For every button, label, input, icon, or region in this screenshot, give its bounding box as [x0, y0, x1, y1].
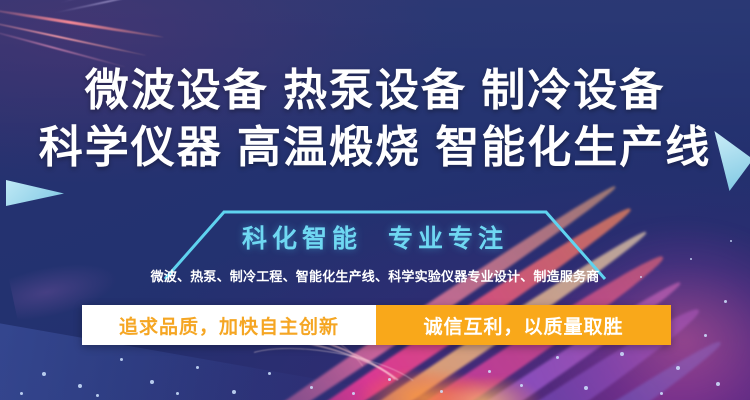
- subtitle: 科化智能专业专注: [0, 219, 750, 255]
- sparkle-dot: [96, 394, 99, 397]
- sparkle-dot: [488, 370, 491, 373]
- sparkle-dot: [704, 334, 707, 337]
- subtitle-right: 专业专注: [388, 225, 508, 253]
- sparkle-dot: [388, 378, 391, 381]
- sparkle-dot: [352, 392, 355, 395]
- sparkle-dot: [660, 392, 663, 395]
- slogan-left: 追求品质，加快自主创新: [82, 305, 376, 345]
- sparkle-dot: [196, 366, 199, 369]
- sparkle-dot: [268, 372, 271, 375]
- sparkle-dot: [620, 352, 624, 356]
- slogan-bar: 追求品质，加快自主创新 诚信互利，以质量取胜: [82, 305, 671, 345]
- sparkle-dot: [42, 372, 46, 376]
- sparkle-dot: [120, 358, 123, 361]
- subtitle-left: 科化智能: [242, 225, 362, 253]
- sparkle-dot: [440, 390, 443, 393]
- sparkle-dot: [716, 382, 720, 386]
- glow-orange-bottom-center-2: [408, 378, 558, 400]
- sparkle-dot: [176, 392, 179, 395]
- sparkle-dot: [584, 386, 588, 390]
- headline-line-2: 科学仪器 高温煅烧 智能化生产线: [0, 119, 750, 176]
- tagline: 微波、热泵、制冷工程、智能化生产线、科学实验仪器专业设计、制造服务商: [0, 266, 750, 285]
- headline-line-1: 微波设备 热泵设备 制冷设备: [0, 62, 750, 119]
- sparkle-dot: [556, 356, 559, 359]
- sparkle-dot: [232, 390, 236, 394]
- sparkle-dot: [724, 300, 727, 303]
- sparkle-dot: [310, 386, 313, 389]
- sparkle-dot: [78, 384, 82, 388]
- slogan-right: 诚信互利，以质量取胜: [376, 305, 671, 345]
- sparkle-dot: [520, 384, 523, 387]
- headline: 微波设备 热泵设备 制冷设备 科学仪器 高温煅烧 智能化生产线: [0, 62, 750, 176]
- sparkle-dot: [676, 366, 680, 370]
- promo-banner: 微波设备 热泵设备 制冷设备 科学仪器 高温煅烧 智能化生产线 科化智能专业专注…: [0, 0, 750, 400]
- sparkle-dot: [20, 392, 23, 395]
- sparkle-dot: [150, 380, 154, 384]
